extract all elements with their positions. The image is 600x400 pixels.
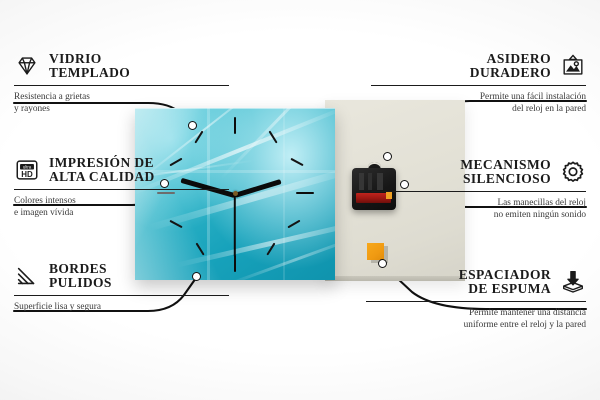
feature-header: VIDRIO TEMPLADO [14, 52, 229, 81]
feature-title-line2: SILENCIOSO [460, 172, 551, 186]
feature-title-line1: MECANISMO [460, 158, 551, 172]
feature-title-line2: DE ESPUMA [459, 282, 551, 296]
clock-tick-3 [296, 192, 314, 194]
feature-description-line1: Resistencia a grietas [14, 91, 229, 103]
feature-asidero-duradero: ASIDERO DURADERO Permite una fácil insta… [371, 52, 586, 116]
feature-divider [371, 191, 586, 193]
clock-tick-4 [287, 220, 300, 229]
feature-description-line1: Superficie lisa y segura [14, 301, 229, 313]
feature-title-line1: IMPRESIÓN DE [49, 156, 155, 170]
infographic-canvas: VIDRIO TEMPLADO Resistencia a grietas y … [0, 0, 600, 400]
clock-tick-7 [195, 243, 204, 256]
feature-description: Superficie lisa y segura [14, 301, 229, 313]
feature-title-line1: ESPACIADOR [459, 268, 551, 282]
feature-description-line1: Colores intensos [14, 195, 229, 207]
feature-divider [14, 295, 229, 297]
feature-title: VIDRIO TEMPLADO [49, 52, 130, 81]
feather-streak [177, 218, 335, 268]
feature-description-line2: e imagen vívida [14, 207, 229, 219]
feature-description: Colores intensos e imagen vívida [14, 195, 229, 220]
feature-title: ESPACIADOR DE ESPUMA [459, 268, 551, 297]
feature-mecanismo-silencioso: MECANISMO SILENCIOSO Las manecillas del … [371, 158, 586, 222]
ultra-hd-badge-bottom-label: HD [21, 170, 33, 179]
clock-tick-6 [234, 255, 236, 272]
feature-header: ASIDERO DURADERO [371, 52, 586, 81]
feature-description: Permite una fácil instalación del reloj … [371, 91, 586, 116]
ultra-hd-badge-icon: ultra HD [14, 157, 40, 183]
clock-second-hand [234, 195, 236, 257]
feature-header: ultra HD IMPRESIÓN DE ALTA CALIDAD [14, 156, 229, 185]
feature-espaciador-de-espuma: ESPACIADOR DE ESPUMA Permite mantener un… [366, 268, 586, 332]
feature-divider [371, 85, 586, 87]
connector-dot-espaciador [378, 259, 387, 268]
feature-description-line2: no emiten ningún sonido [371, 209, 586, 221]
feature-description-line1: Permite una fácil instalación [371, 91, 586, 103]
diamond-icon [14, 53, 40, 79]
feature-title-line2: TEMPLADO [49, 66, 130, 80]
feature-title-line1: ASIDERO [470, 52, 551, 66]
clock-tick-12 [234, 117, 236, 134]
feature-title-line1: BORDES [49, 262, 112, 276]
feature-description: Las manecillas del reloj no emiten ningú… [371, 197, 586, 222]
feature-title: IMPRESIÓN DE ALTA CALIDAD [49, 156, 155, 185]
polished-edges-icon [14, 263, 40, 289]
feature-title: MECANISMO SILENCIOSO [460, 158, 551, 187]
feature-vidrio-templado: VIDRIO TEMPLADO Resistencia a grietas y … [14, 52, 229, 116]
feature-title-line1: VIDRIO [49, 52, 130, 66]
ultra-hd-badge-top-label: ultra [23, 165, 32, 170]
feature-header: ESPACIADOR DE ESPUMA [366, 268, 586, 297]
clock-tick-2 [290, 158, 303, 167]
feature-title: ASIDERO DURADERO [470, 52, 551, 81]
feature-divider [14, 189, 229, 191]
feature-description: Resistencia a grietas y rayones [14, 91, 229, 116]
feature-description-line2: uniforme entre el reloj y la pared [366, 319, 586, 331]
feature-description-line2: y rayones [14, 103, 229, 115]
feature-title-line2: PULIDOS [49, 276, 112, 290]
feature-description-line1: Permite mantener una distancia [366, 307, 586, 319]
picture-frame-hanger-icon [560, 53, 586, 79]
feature-title-line2: DURADERO [470, 66, 551, 80]
feature-header: BORDES PULIDOS [14, 262, 229, 291]
clock-center-pin [233, 191, 238, 196]
feature-divider [14, 85, 229, 87]
feature-title: BORDES PULIDOS [49, 262, 112, 291]
feature-description: Permite mantener una distancia uniforme … [366, 307, 586, 332]
feature-description-line1: Las manecillas del reloj [371, 197, 586, 209]
feature-divider [366, 301, 586, 303]
feature-header: MECANISMO SILENCIOSO [371, 158, 586, 187]
foam-spacer [367, 243, 384, 260]
foam-spacer-arrow-icon [560, 269, 586, 295]
connector-dot-vidrio-templado [188, 121, 197, 130]
feature-bordes-pulidos: BORDES PULIDOS Superficie lisa y segura [14, 262, 229, 313]
feature-title-line2: ALTA CALIDAD [49, 170, 155, 184]
feature-impresion-alta-calidad: ultra HD IMPRESIÓN DE ALTA CALIDAD Color… [14, 156, 229, 220]
feature-description-line2: del reloj en la pared [371, 103, 586, 115]
gear-icon [560, 159, 586, 185]
